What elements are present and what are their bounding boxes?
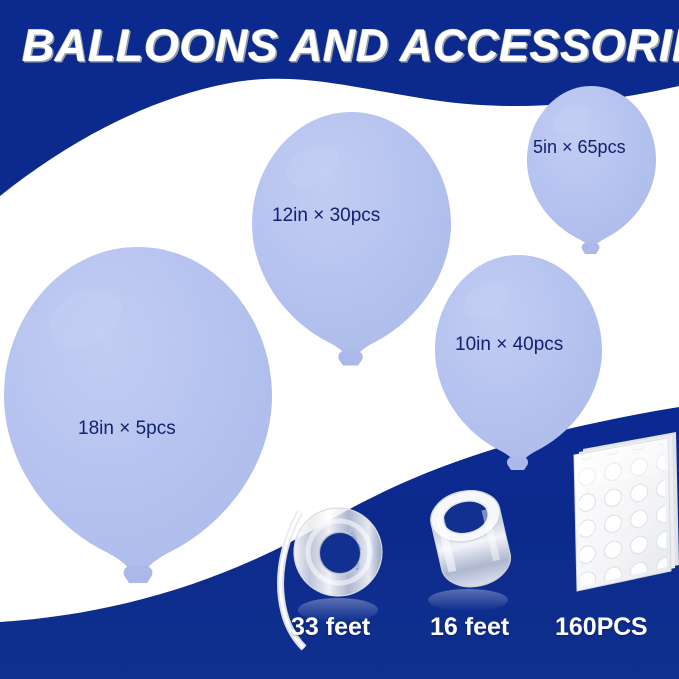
- caption-ribbon-roll: 16 feet: [430, 613, 509, 642]
- artwork-background: 10m PE 33ft: [0, 0, 679, 679]
- svg-text:33ft: 33ft: [353, 562, 360, 572]
- caption-strip-tape: 33 feet: [291, 613, 370, 642]
- caption-glue-dots: 160PCS: [555, 613, 647, 642]
- balloon-label-10in: 10in × 40pcs: [455, 334, 563, 356]
- caption-glue-dots-unit: PCS: [597, 613, 648, 641]
- page-title: BALLOONS AND ACCESSORIES: [22, 20, 679, 72]
- balloon-label-18in: 18in × 5pcs: [78, 418, 176, 440]
- caption-glue-dots-number: 160: [555, 613, 597, 641]
- product-image-canvas: 10m PE 33ft: [0, 0, 679, 679]
- balloon-label-12in: 12in × 30pcs: [272, 205, 380, 227]
- balloon-label-5in: 5in × 65pcs: [533, 137, 626, 158]
- ribbon-roll-reflection: [428, 589, 508, 611]
